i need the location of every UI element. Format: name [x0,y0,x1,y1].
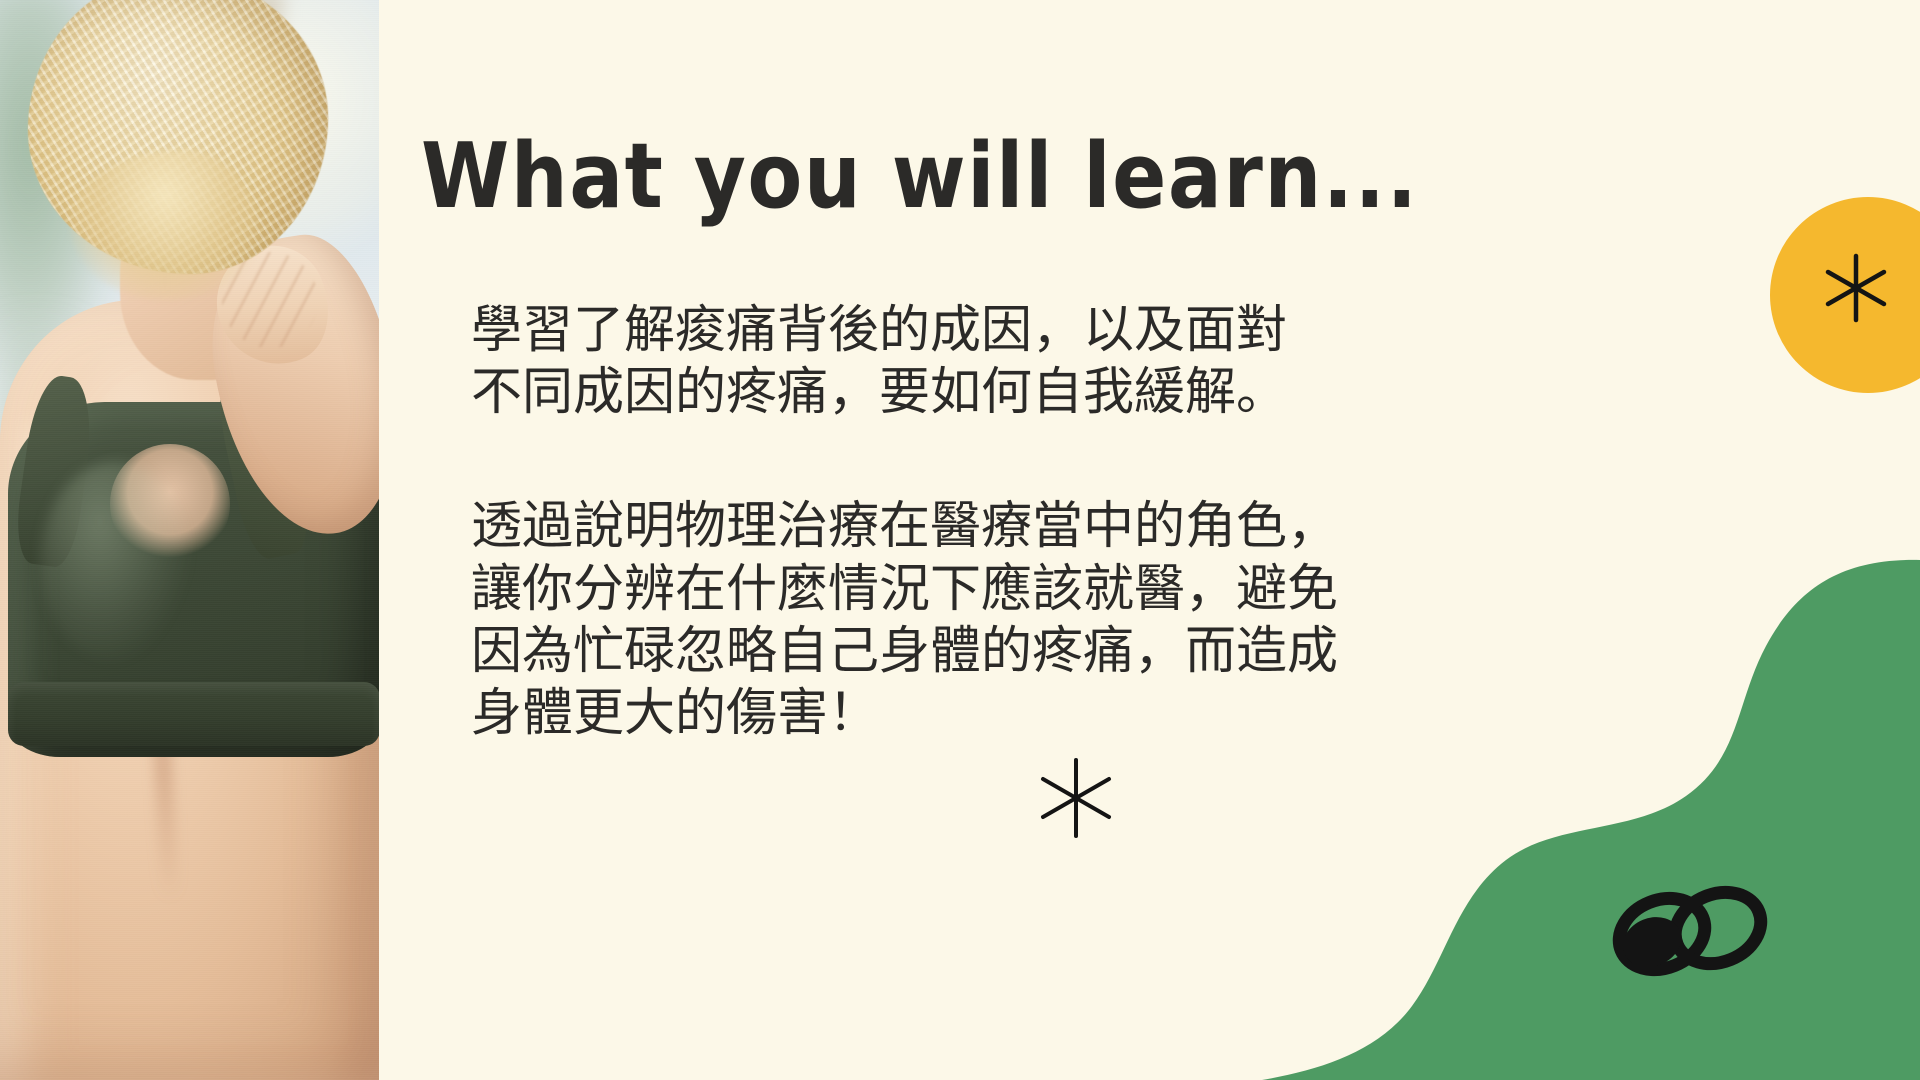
body-text-block: 學習了解痠痛背後的成因，以及面對 不同成因的疼痛，要如何自我緩解。 透過說明物理… [471,300,1471,745]
asterisk-icon-on-circle [1820,252,1892,324]
sports-bra-highlight [40,462,190,662]
asterisk-icon-small [1034,756,1118,840]
rings-icon [1608,878,1774,988]
asterisk-icon-small-wrapper [1034,756,1118,840]
paragraph-1: 學習了解痠痛背後的成因，以及面對 不同成因的疼痛，要如何自我緩解。 [471,300,1471,424]
hero-photo [0,0,379,1080]
sports-bra-band [8,682,379,746]
asterisk-icon [1820,252,1892,324]
paragraph-2: 透過說明物理治療在醫療當中的角色， 讓你分辨在什麼情況下應該就醫，避免 因為忙碌… [471,496,1471,745]
interlocking-rings-logo [1608,878,1774,988]
slide-root: What you will learn... 學習了解痠痛背後的成因，以及面對 … [0,0,1920,1080]
content-panel: What you will learn... 學習了解痠痛背後的成因，以及面對 … [379,0,1920,1080]
page-title: What you will learn... [421,124,1418,228]
